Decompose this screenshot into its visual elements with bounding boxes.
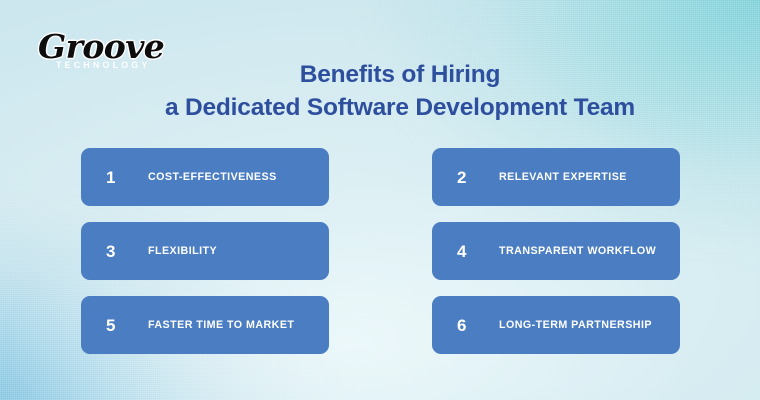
benefit-card-5[interactable]: 5 FASTER TIME TO MARKET <box>81 296 329 354</box>
page-title: Benefits of Hiring a Dedicated Software … <box>140 58 660 124</box>
benefit-label: FLEXIBILITY <box>148 246 217 257</box>
benefit-number: 2 <box>457 169 499 186</box>
benefit-card-1[interactable]: 1 COST-EFFECTIVENESS <box>81 148 329 206</box>
page-title-line-2: a Dedicated Software Development Team <box>140 91 660 124</box>
benefit-card-3[interactable]: 3 FLEXIBILITY <box>81 222 329 280</box>
infographic-canvas: Groove TECHNOLOGY Benefits of Hiring a D… <box>0 0 760 400</box>
benefit-label: LONG-TERM PARTNERSHIP <box>499 320 652 331</box>
benefit-label: COST-EFFECTIVENESS <box>148 172 277 183</box>
benefit-number: 4 <box>457 243 499 260</box>
benefit-number: 1 <box>106 169 148 186</box>
benefit-number: 3 <box>106 243 148 260</box>
benefit-label: FASTER TIME TO MARKET <box>148 320 294 331</box>
benefit-label: TRANSPARENT WORKFLOW <box>499 246 656 257</box>
benefit-card-6[interactable]: 6 LONG-TERM PARTNERSHIP <box>432 296 680 354</box>
benefit-label: RELEVANT EXPERTISE <box>499 172 627 183</box>
benefits-card-grid: 1 COST-EFFECTIVENESS 3 FLEXIBILITY 5 FAS… <box>81 148 680 354</box>
benefit-number: 6 <box>457 317 499 334</box>
page-title-line-1: Benefits of Hiring <box>140 58 660 91</box>
benefit-number: 5 <box>106 317 148 334</box>
benefit-card-4[interactable]: 4 TRANSPARENT WORKFLOW <box>432 222 680 280</box>
benefit-card-2[interactable]: 2 RELEVANT EXPERTISE <box>432 148 680 206</box>
